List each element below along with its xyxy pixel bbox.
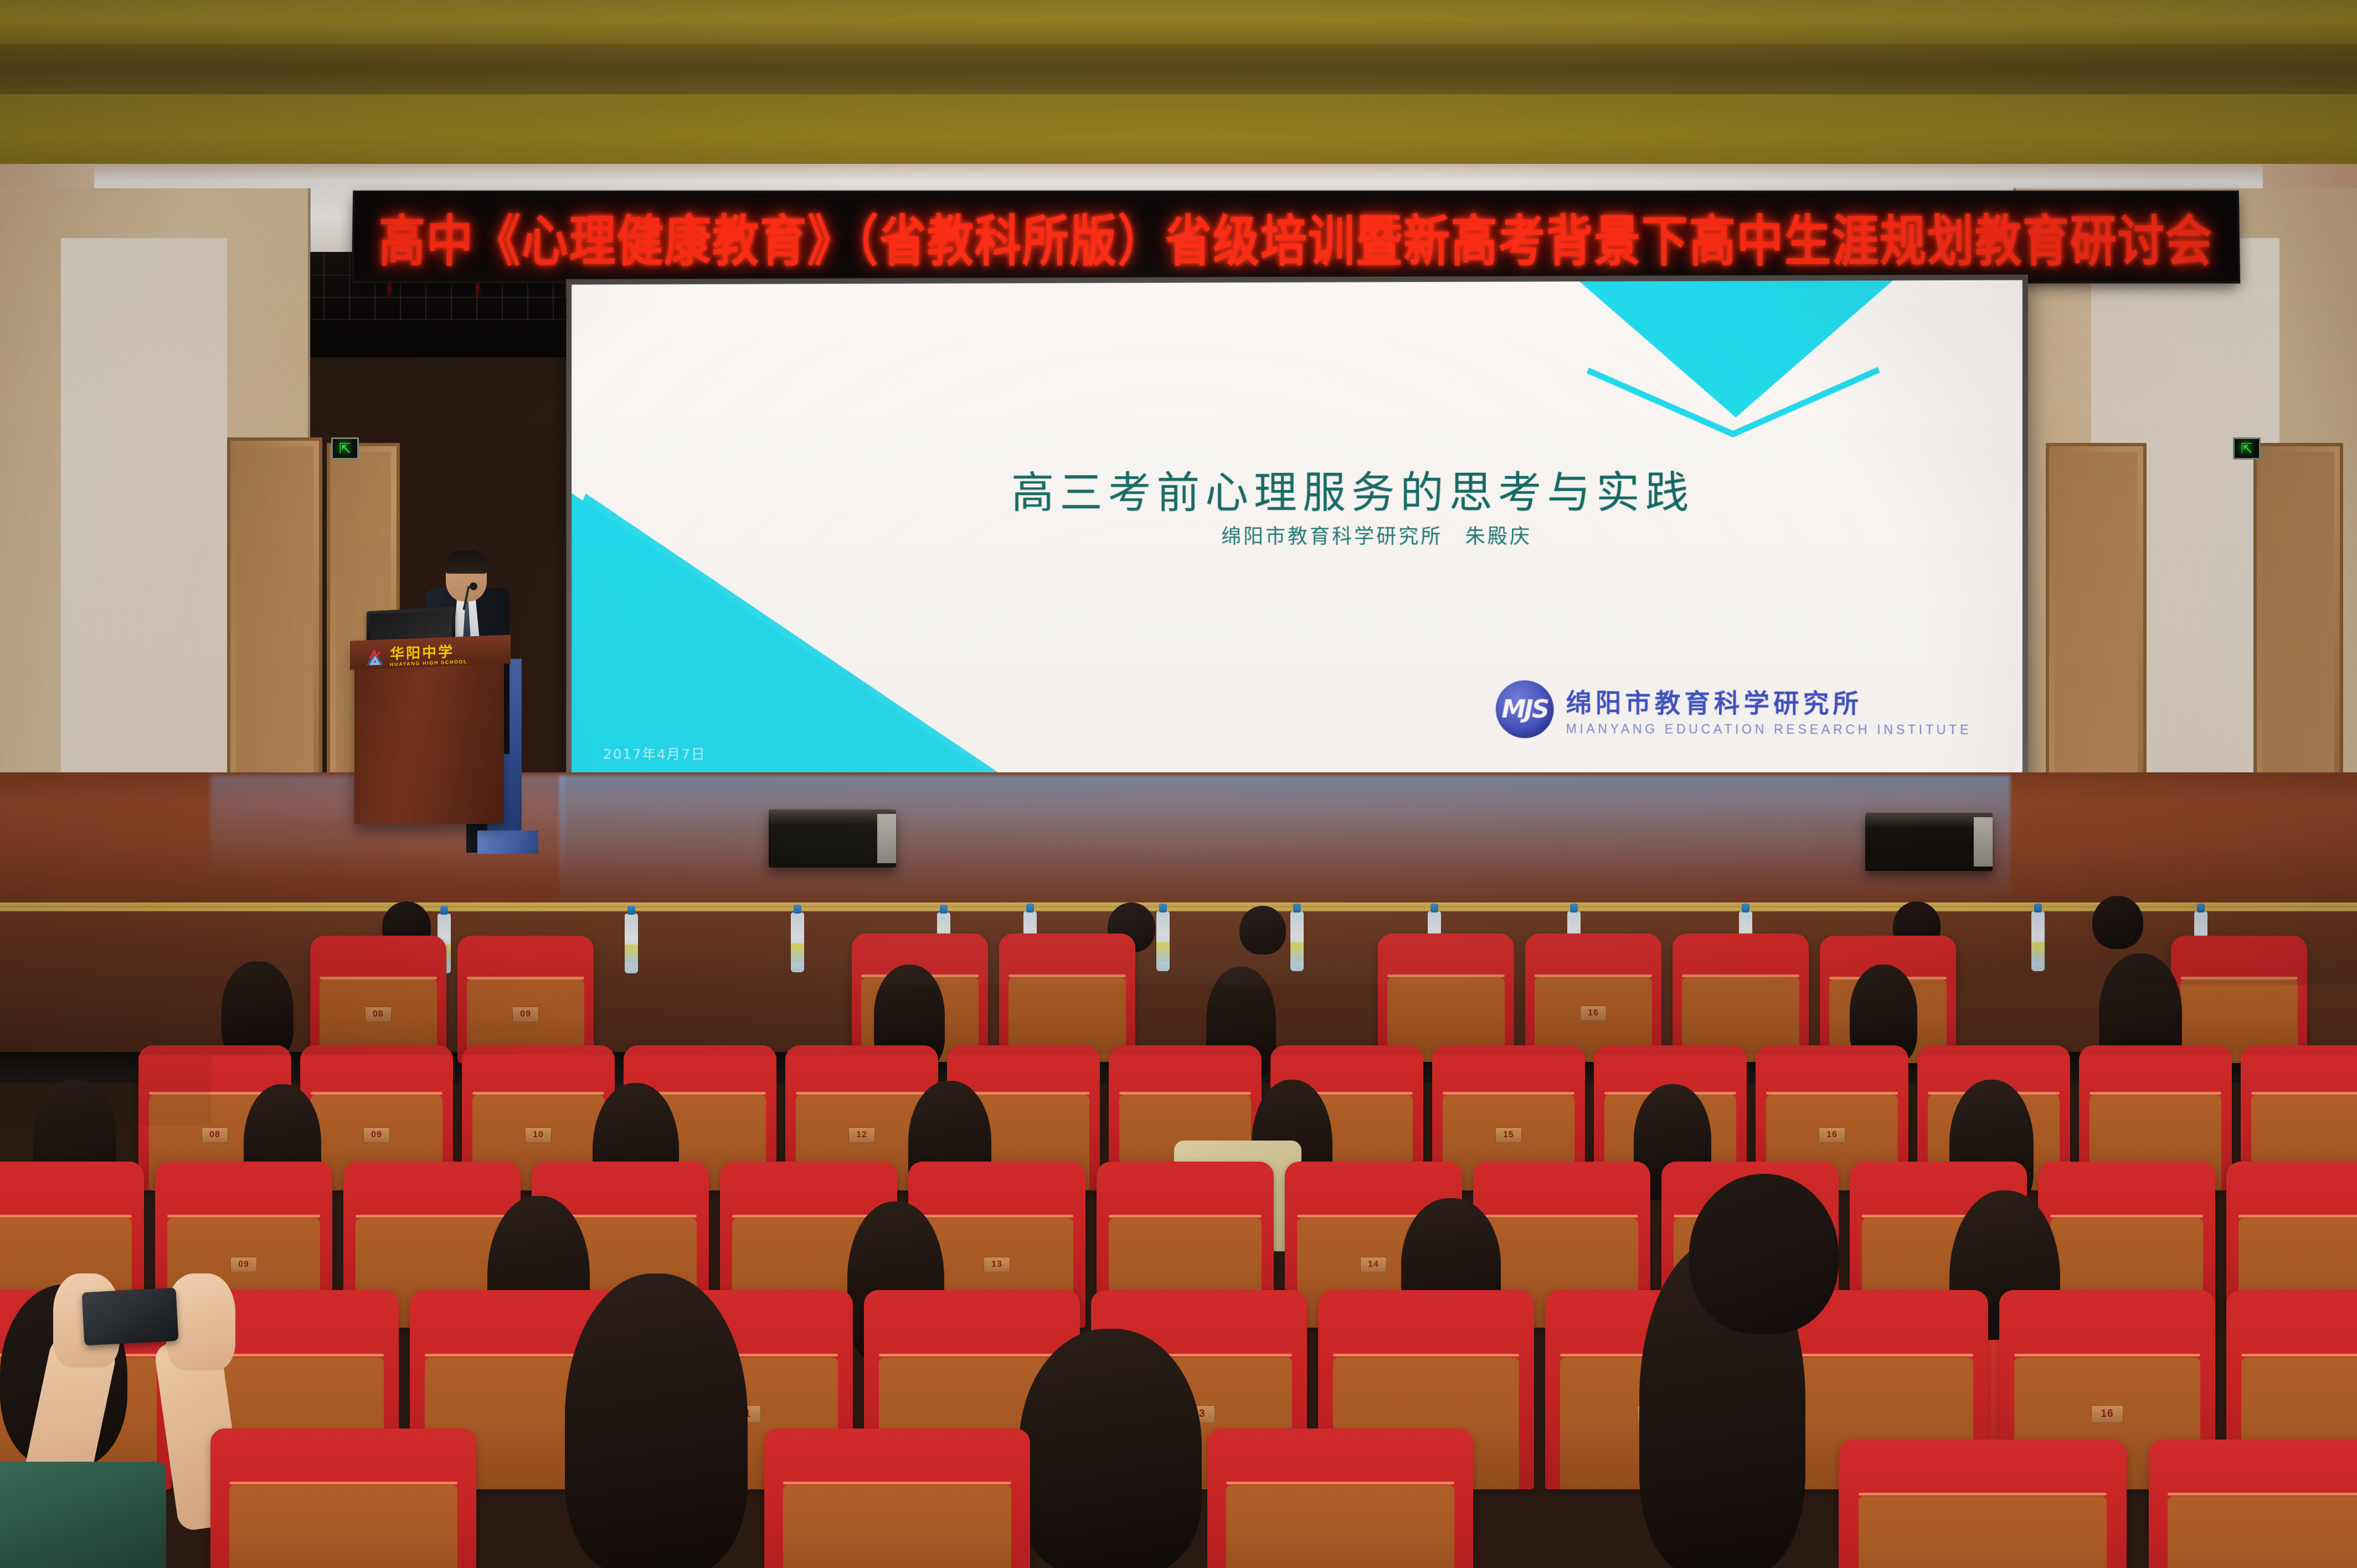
- slide-subtitle: 绵阳市教育科学研究所 朱殿庆: [572, 520, 1955, 549]
- institute-name-en: MIANYANG EDUCATION RESEARCH INSTITUTE: [1566, 721, 1972, 737]
- seat-trim: [2050, 1215, 2202, 1218]
- bottle-cap: [1293, 904, 1301, 912]
- seat-trim: [356, 1215, 508, 1218]
- seat-trim: [1859, 1493, 2106, 1495]
- seat-number-badge: 15: [1678, 1411, 1710, 1428]
- seat-trim: [0, 1215, 132, 1218]
- auditorium-seat[interactable]: [764, 1428, 1030, 1568]
- bottle-label: [625, 945, 638, 963]
- attendee-head-foreground: [1689, 1174, 1839, 1334]
- ceiling-valance-shadow: [0, 44, 2357, 94]
- seat-trim: [1333, 1354, 1519, 1356]
- seat-trim: [1766, 1092, 1897, 1095]
- auditorium-seat[interactable]: 09: [457, 936, 594, 1063]
- seat-number-badge: 08: [365, 1007, 392, 1022]
- led-banner: 高中《心理健康教育》（省教科所版）省级培训暨新高考背景下高中生涯规划教育研讨会: [354, 193, 2238, 281]
- seat-number-badge: 15: [1495, 1127, 1522, 1143]
- podium-base: [477, 831, 538, 854]
- auditorium-seat[interactable]: [2171, 936, 2307, 1063]
- projection-screen-frame: 高三考前心理服务的思考与实践 绵阳市教育科学研究所 朱殿庆 2017年4月7日 …: [566, 275, 2028, 789]
- seat-trim: [2241, 1354, 2357, 1356]
- auditorium-seat[interactable]: [999, 933, 1135, 1062]
- seat-number-badge: 08: [202, 1127, 228, 1143]
- auditorium-seat[interactable]: [210, 1428, 476, 1568]
- institute-logo: MJS 绵阳市教育科学研究所 MIANYANG EDUCATION RESEAR…: [1496, 680, 1972, 740]
- mjs-mark-icon: MJS: [1496, 680, 1554, 739]
- seat-number-badge: 16: [2091, 1405, 2123, 1423]
- auditorium-seat[interactable]: [1378, 933, 1514, 1062]
- water-bottle[interactable]: [2031, 911, 2045, 971]
- seat-trim: [2180, 977, 2298, 979]
- institute-name-cn: 绵阳市教育科学研究所: [1566, 682, 1972, 720]
- stage-monitor-speaker: [1865, 813, 1993, 871]
- seat-trim: [1443, 1092, 1574, 1095]
- seat-trim: [796, 1092, 927, 1095]
- door-right-panel: [2055, 452, 2138, 823]
- attendee-head: [2092, 896, 2143, 949]
- running-man-icon: ⇱: [2241, 441, 2253, 456]
- attendee-body: [0, 1462, 166, 1568]
- seat-trim: [879, 1354, 1064, 1356]
- bottle-cap: [1570, 904, 1578, 912]
- stage-monitor-speaker: [769, 809, 896, 868]
- bottle-cap: [2034, 904, 2042, 912]
- projection-screen: 高三考前心理服务的思考与实践 绵阳市教育科学研究所 朱殿庆 2017年4月7日 …: [572, 280, 2023, 783]
- auditorium-seat[interactable]: [1672, 933, 1809, 1062]
- ceiling-valance-upper: [0, 0, 2357, 44]
- audience-smartphone[interactable]: [82, 1288, 179, 1346]
- led-banner-text: 高中《心理健康教育》（省教科所版）省级培训暨新高考背景下高中生涯规划教育研讨会: [378, 198, 2214, 277]
- attendee-hair-foreground: [565, 1273, 748, 1568]
- seat-trim: [1226, 1482, 1455, 1484]
- running-man-icon: ⇱: [339, 441, 351, 456]
- bottle-cap: [794, 905, 801, 914]
- seat-number-badge: 09: [230, 1257, 257, 1272]
- seat-number-badge: 14: [1360, 1257, 1387, 1272]
- attendee-hair-foreground: [1019, 1329, 1202, 1568]
- seat-trim: [311, 1092, 442, 1095]
- seat-number-badge: 16: [1819, 1127, 1845, 1143]
- seat-trim: [1485, 1215, 1638, 1218]
- seat-trim: [1109, 1215, 1261, 1218]
- door-left-panel: [236, 446, 313, 823]
- seat-trim: [320, 977, 437, 979]
- seat-number-badge: 12: [848, 1127, 875, 1143]
- bottle-cap: [940, 905, 948, 914]
- podium-nameplate-text: 华阳中学 HUAYANG HIGH SCHOOL: [390, 644, 467, 667]
- bottle-cap: [627, 906, 635, 915]
- bottle-cap: [1742, 904, 1749, 912]
- seat-trim: [1008, 974, 1126, 977]
- seat-wood-back: [1859, 1496, 2106, 1568]
- wall-left-panel: [61, 238, 227, 825]
- seat-trim: [1119, 1092, 1250, 1095]
- seat-trim: [1535, 974, 1652, 977]
- seat-trim: [2090, 1092, 2221, 1095]
- water-bottle[interactable]: [1156, 911, 1170, 971]
- institute-logo-text: 绵阳市教育科学研究所 MIANYANG EDUCATION RESEARCH I…: [1566, 682, 1972, 737]
- presenter-glasses-icon: [450, 570, 482, 579]
- seat-trim: [2251, 1092, 2357, 1095]
- seat-trim: [467, 977, 584, 979]
- stage-monitor-side-panel: [1974, 817, 1993, 866]
- seat-wood-back: [1226, 1485, 1455, 1568]
- bottle-label: [1290, 942, 1304, 961]
- seat-number-badge: 10: [525, 1127, 552, 1143]
- seat-trim: [167, 1215, 320, 1218]
- school-crest-icon: [366, 649, 384, 666]
- bottle-cap: [1430, 904, 1438, 912]
- slide-title: 高三考前心理服务的思考与实践: [572, 458, 2023, 520]
- auditorium-seat[interactable]: [2149, 1440, 2357, 1568]
- seat-number-badge: 16: [1580, 1005, 1607, 1021]
- stage-monitor-side-panel: [877, 814, 896, 863]
- microphone-icon: [470, 582, 477, 590]
- auditorium-seat[interactable]: [1839, 1440, 2127, 1568]
- seat-wood-back: [2168, 1496, 2357, 1568]
- auditorium-seat[interactable]: [1207, 1428, 1473, 1568]
- bottle-cap: [1159, 904, 1167, 912]
- bottle-label: [2031, 942, 2045, 961]
- water-bottle[interactable]: [1290, 911, 1304, 971]
- seat-number-badge: 09: [512, 1007, 539, 1022]
- seat-trim: [2238, 1215, 2357, 1218]
- seat-trim: [2014, 1354, 2200, 1356]
- seat-wood-back: [229, 1485, 458, 1568]
- seat-trim: [920, 1215, 1073, 1218]
- seat-trim: [229, 1482, 458, 1484]
- slide-date: 2017年4月7日: [603, 744, 706, 764]
- seat-number-badge: 09: [363, 1127, 390, 1143]
- auditorium-photo: ⇱ ⇱ 高中《心理健康教育》（省教科所版）省级培训暨新高考背景下高中生涯规划教育…: [0, 0, 2357, 1568]
- auditorium-seat[interactable]: 08: [310, 936, 446, 1063]
- bottle-label: [1156, 942, 1170, 961]
- exit-sign-icon: ⇱: [331, 437, 359, 460]
- seat-wood-back: [783, 1485, 1012, 1568]
- seat-trim: [1387, 974, 1505, 977]
- bottle-cap: [1026, 904, 1034, 912]
- seat-trim: [958, 1092, 1089, 1095]
- bottle-cap: [440, 906, 448, 915]
- bottle-label: [791, 943, 804, 962]
- ceiling-valance-lower: [0, 94, 2357, 166]
- seat-trim: [1682, 974, 1799, 977]
- seat-trim: [732, 1215, 884, 1218]
- seat-trim: [783, 1482, 1012, 1484]
- water-bottle[interactable]: [625, 914, 638, 973]
- door-right-secondary-panel: [2262, 452, 2334, 823]
- seat-trim: [472, 1092, 604, 1095]
- seat-trim: [2168, 1493, 2357, 1495]
- auditorium-seat[interactable]: 16: [1525, 933, 1661, 1062]
- attendee-head: [1239, 906, 1286, 955]
- bottle-cap: [2197, 904, 2205, 912]
- water-bottle[interactable]: [791, 912, 804, 972]
- exit-sign-icon: ⇱: [2233, 437, 2261, 460]
- slide-accent-chevron-outline: [1554, 364, 1912, 443]
- seat-number-badge: 13: [984, 1257, 1010, 1272]
